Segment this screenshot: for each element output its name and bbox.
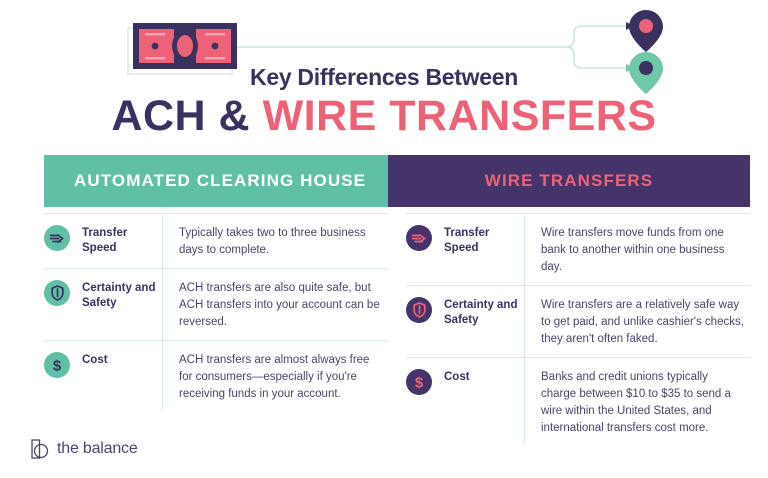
- row-icon-wrap: $: [44, 350, 82, 378]
- row-separator: [162, 350, 163, 403]
- row-separator: [162, 223, 163, 259]
- row-separator: [524, 223, 525, 276]
- svg-text:$: $: [415, 374, 424, 391]
- row-icon-wrap: [406, 295, 444, 323]
- banner-wire: WIRE TRANSFERS: [388, 155, 750, 207]
- dollar-sign-icon: $: [44, 352, 70, 378]
- svg-text:$: $: [53, 357, 62, 374]
- table-row: Transfer Speed Typically takes two to th…: [44, 213, 388, 268]
- footer-brand-label: the balance: [57, 440, 138, 458]
- row-icon-wrap: [44, 223, 82, 251]
- table-row: Transfer Speed Wire transfers move funds…: [406, 213, 750, 285]
- banner-wire-label: WIRE TRANSFERS: [485, 171, 653, 191]
- row-description: Banks and credit unions typically charge…: [541, 367, 750, 437]
- row-icon-wrap: [406, 223, 444, 251]
- row-icon-wrap: [44, 278, 82, 306]
- row-description: Wire transfers move funds from one bank …: [541, 223, 750, 276]
- row-description: Wire transfers are a relatively safe way…: [541, 295, 750, 348]
- table-row: Certainty and Safety Wire transfers are …: [406, 285, 750, 357]
- dollar-sign-icon: $: [406, 369, 432, 395]
- flow-arrow-line: [232, 26, 626, 68]
- table-row: $ Cost Banks and credit unions typically…: [406, 357, 750, 446]
- row-label: Cost: [82, 350, 162, 368]
- column-wire: Transfer Speed Wire transfers move funds…: [406, 213, 750, 446]
- page-subtitle: Key Differences Between: [0, 64, 768, 91]
- the-balance-logo-icon: [30, 438, 50, 460]
- page-title-ampersand: &: [219, 92, 251, 140]
- banknote-icon: [133, 23, 237, 69]
- table-row: $ Cost ACH transfers are almost always f…: [44, 340, 388, 412]
- row-icon-wrap: $: [406, 367, 444, 395]
- column-ach: Transfer Speed Typically takes two to th…: [44, 213, 388, 412]
- row-description: ACH transfers are almost always free for…: [179, 350, 388, 403]
- row-description: Typically takes two to three business da…: [179, 223, 388, 259]
- speed-arrow-icon: [406, 225, 432, 251]
- map-pin-top-icon: [629, 10, 663, 52]
- row-label: Transfer Speed: [444, 223, 524, 256]
- table-row: Certainty and Safety ACH transfers are a…: [44, 268, 388, 340]
- page-title: ACH & WIRE TRANSFERS: [0, 92, 768, 140]
- row-separator: [162, 278, 163, 331]
- row-label: Certainty and Safety: [82, 278, 162, 311]
- banner-ach: AUTOMATED CLEARING HOUSE: [44, 155, 388, 207]
- speed-arrow-icon: [44, 225, 70, 251]
- banner-ach-label: AUTOMATED CLEARING HOUSE: [74, 171, 366, 191]
- row-description: ACH transfers are also quite safe, but A…: [179, 278, 388, 331]
- shield-icon: [44, 280, 70, 306]
- row-label: Cost: [444, 367, 524, 385]
- row-separator: [524, 295, 525, 348]
- row-separator: [524, 367, 525, 437]
- page-title-ach: ACH: [111, 92, 206, 140]
- row-label: Transfer Speed: [82, 223, 162, 256]
- page-title-wire: WIRE TRANSFERS: [263, 92, 657, 140]
- hero-section: Key Differences Between ACH & WIRE TRANS…: [0, 0, 768, 145]
- footer-brand: the balance: [30, 438, 138, 460]
- infographic-root: Key Differences Between ACH & WIRE TRANS…: [0, 0, 768, 478]
- comparison-columns: Transfer Speed Typically takes two to th…: [0, 213, 768, 428]
- shield-icon: [406, 297, 432, 323]
- row-label: Certainty and Safety: [444, 295, 524, 328]
- column-banners: AUTOMATED CLEARING HOUSE WIRE TRANSFERS: [44, 155, 750, 207]
